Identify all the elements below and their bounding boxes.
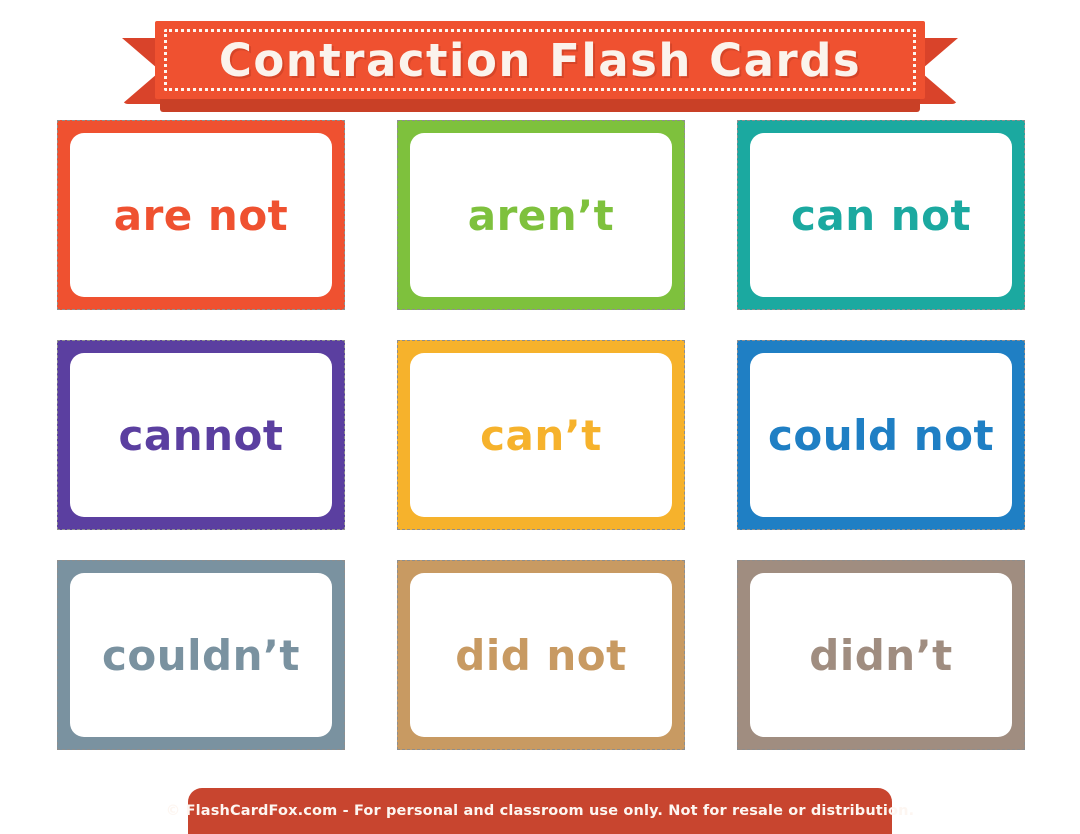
- flash-card[interactable]: couldn’t: [57, 560, 345, 750]
- card-term: aren’t: [468, 191, 614, 240]
- card-face: can’t: [410, 353, 672, 517]
- flash-card[interactable]: could not: [737, 340, 1025, 530]
- card-term: cannot: [119, 411, 284, 460]
- card-face: couldn’t: [70, 573, 332, 737]
- card-face: aren’t: [410, 133, 672, 297]
- flash-card[interactable]: aren’t: [397, 120, 685, 310]
- card-term: didn’t: [809, 631, 952, 680]
- card-term: can’t: [480, 411, 602, 460]
- page-title: Contraction Flash Cards: [219, 34, 861, 87]
- flash-card[interactable]: can not: [737, 120, 1025, 310]
- title-banner: Contraction Flash Cards: [0, 0, 1080, 112]
- card-term: did not: [455, 631, 626, 680]
- card-term: couldn’t: [102, 631, 300, 680]
- ribbon-body: Contraction Flash Cards: [155, 21, 925, 99]
- flash-card-grid: are not aren’t can not cannot can’t coul…: [57, 120, 1025, 750]
- flash-card[interactable]: didn’t: [737, 560, 1025, 750]
- copyright-notice: © FlashCardFox.com - For personal and cl…: [166, 803, 914, 819]
- card-face: cannot: [70, 353, 332, 517]
- card-face: can not: [750, 133, 1012, 297]
- card-face: didn’t: [750, 573, 1012, 737]
- card-face: did not: [410, 573, 672, 737]
- card-face: are not: [70, 133, 332, 297]
- flash-card[interactable]: did not: [397, 560, 685, 750]
- card-term: can not: [791, 191, 971, 240]
- card-term: are not: [114, 191, 289, 240]
- flash-card[interactable]: can’t: [397, 340, 685, 530]
- flash-card[interactable]: cannot: [57, 340, 345, 530]
- card-face: could not: [750, 353, 1012, 517]
- footer-bar: © FlashCardFox.com - For personal and cl…: [188, 788, 892, 834]
- card-term: could not: [768, 411, 994, 460]
- flash-card[interactable]: are not: [57, 120, 345, 310]
